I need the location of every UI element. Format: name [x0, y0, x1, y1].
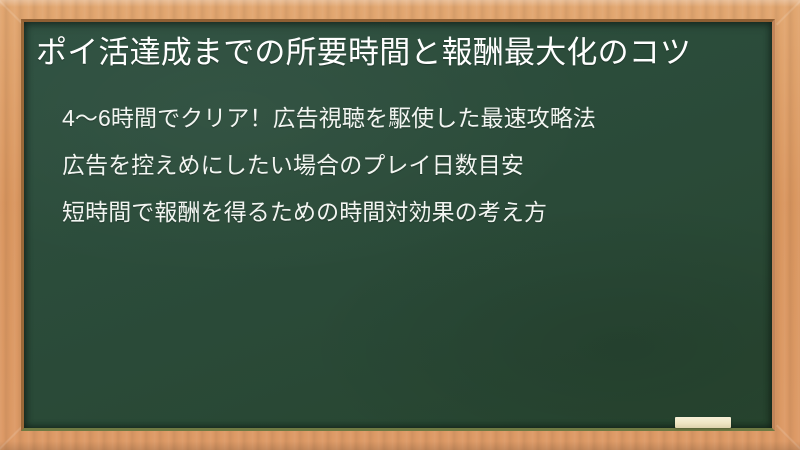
bullet-list: 4〜6時間でクリア！広告視聴を駆使した最速攻略法 広告を控えめにしたい場合のプレ…	[32, 98, 752, 233]
blackboard-slide: ポイ活達成までの所要時間と報酬最大化のコツ 4〜6時間でクリア！広告視聴を駆使し…	[0, 0, 800, 450]
list-item: 広告を控えめにしたい場合のプレイ日数目安	[62, 145, 746, 186]
page-title: ポイ活達成までの所要時間と報酬最大化のコツ	[32, 30, 752, 76]
frame-top-highlight	[0, 0, 800, 7]
chalk-piece	[675, 417, 731, 428]
board-content: ポイ活達成までの所要時間と報酬最大化のコツ 4〜6時間でクリア！広告視聴を駆使し…	[24, 22, 772, 233]
list-item: 4〜6時間でクリア！広告視聴を駆使した最速攻略法	[62, 98, 746, 139]
chalkboard-surface: ポイ活達成までの所要時間と報酬最大化のコツ 4〜6時間でクリア！広告視聴を駆使し…	[24, 22, 772, 428]
list-item: 短時間で報酬を得るための時間対効果の考え方	[62, 192, 746, 233]
frame-bottom-shadow	[0, 441, 800, 450]
